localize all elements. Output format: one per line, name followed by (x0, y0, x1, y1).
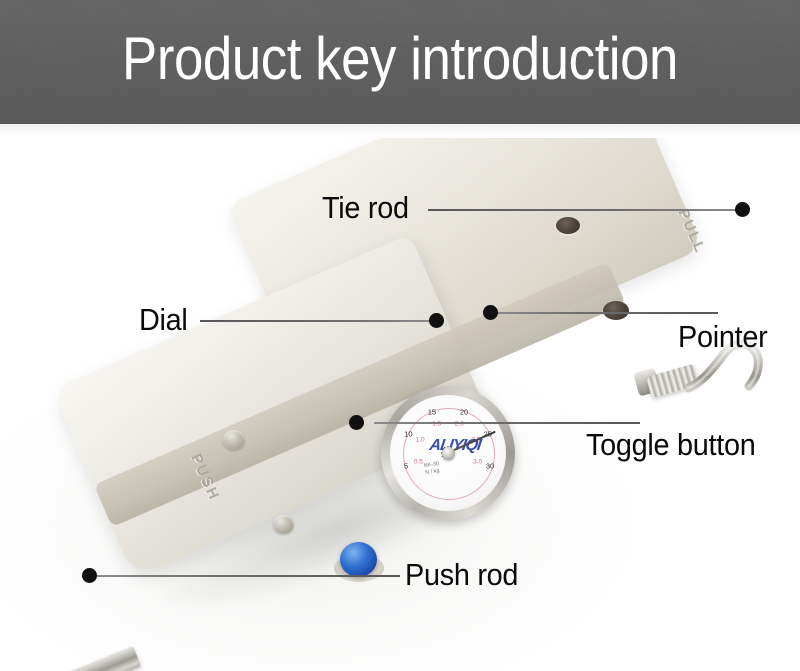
callout-marker-tie-rod (735, 202, 750, 217)
header-divider (0, 124, 800, 138)
leader-line-tie-rod (428, 209, 746, 211)
dial-face: 510152025300.51.01.52.02.53.0 NK-30 N / … (390, 395, 506, 511)
callout-marker-pointer (483, 305, 498, 320)
callout-marker-toggle-button (349, 415, 364, 430)
dial-outer-number: 15 (428, 408, 436, 417)
casing-hole-top (556, 217, 580, 234)
leader-line-pointer (490, 312, 718, 314)
callout-marker-dial (429, 313, 444, 328)
casing-screw-upper (223, 430, 245, 450)
dial-outer-number: 5 (404, 461, 408, 470)
casing-hole-bottom (603, 301, 629, 320)
callout-label-toggle-button: Toggle button (586, 428, 756, 462)
callout-label-push-rod: Push rod (405, 558, 518, 592)
callout-marker-push-rod (82, 568, 97, 583)
callout-label-pointer: Pointer (678, 320, 767, 354)
dial-outer-number: 10 (404, 429, 412, 438)
callout-label-dial: Dial (139, 303, 188, 337)
leader-line-toggle-button (374, 422, 640, 424)
header-banner: Product key introduction (0, 0, 800, 124)
casing-screw-lower (273, 515, 294, 534)
dial-center-hub (442, 447, 455, 460)
leader-line-dial (200, 320, 438, 322)
dial-inner-number: 1.0 (416, 436, 425, 443)
product-introduction-slide: Product key introduction PULL PUSH (0, 0, 800, 671)
page-title: Product key introduction (48, 26, 752, 92)
toggle-button[interactable] (340, 542, 377, 577)
dial-outer-number: 20 (460, 408, 468, 417)
dial-gauge: 510152025300.51.01.52.02.53.0 NK-30 N / … (381, 386, 515, 520)
dial-inner-number: 0.5 (414, 459, 423, 466)
callout-label-tie-rod: Tie rod (322, 191, 409, 225)
dial-outer-number: 30 (486, 461, 494, 470)
dial-inner-number: 3.0 (473, 459, 482, 466)
dial-unit-text: N / kg (425, 468, 440, 476)
product-photo: PULL PUSH (0, 138, 800, 671)
dial-face-subtext: NK-30 N / kg (423, 461, 440, 477)
leader-line-push-rod (97, 575, 400, 577)
